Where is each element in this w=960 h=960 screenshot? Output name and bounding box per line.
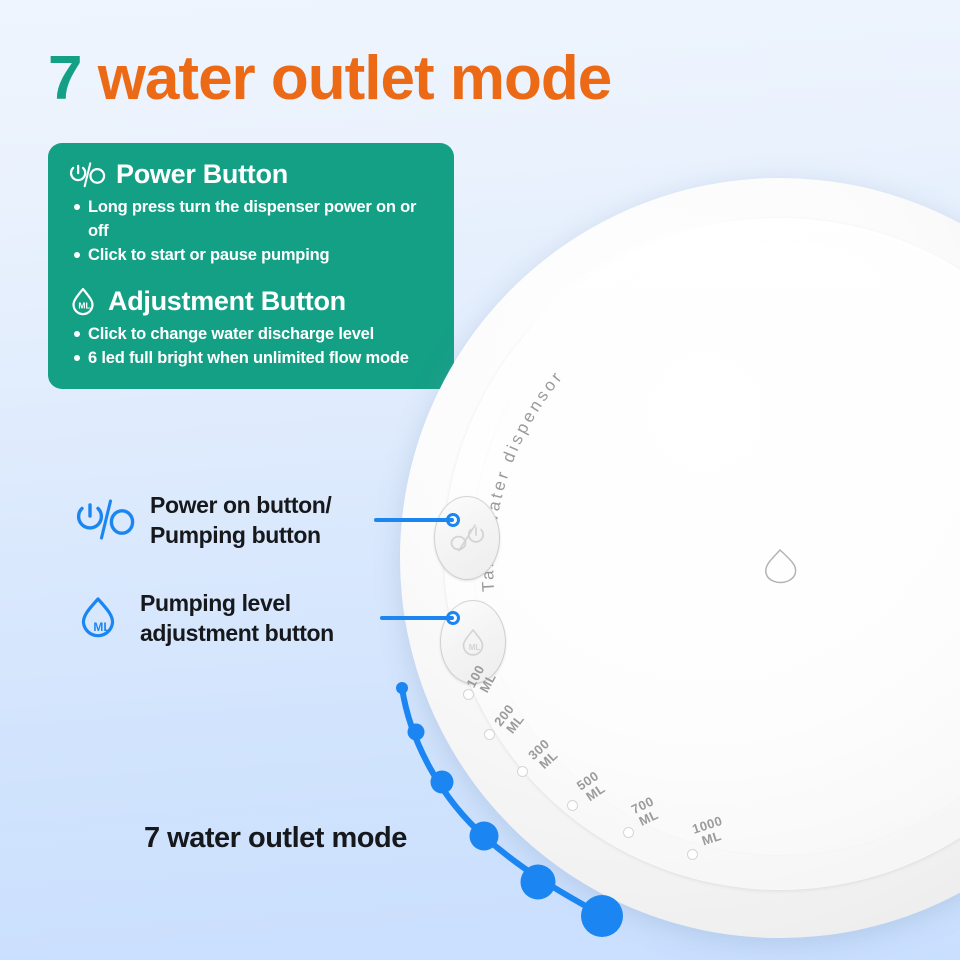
svg-text:ML: ML [469,643,481,652]
callout-line: Pumping button [150,522,321,548]
callout-line: adjustment button [140,620,334,646]
info-bullet: Long press turn the dispenser power on o… [74,196,434,244]
leader-line-power [374,518,454,522]
info-section-adjust-header: ML Adjustment Button [68,286,434,317]
info-section-power-header: Power Button [68,159,434,190]
ml-droplet-icon: ML [68,286,98,316]
title-rest: water outlet mode [81,44,611,113]
callout-line: Pumping level [140,590,291,616]
water-drop-icon [758,546,802,586]
power-button-icon [74,497,136,543]
bullet-dot [74,252,80,258]
level-led [688,850,697,859]
device-power-pump-button[interactable] [434,496,500,580]
mode-dot [431,771,454,794]
bottom-mode-label: 7 water outlet mode [144,822,407,855]
ml-droplet-icon: ML [456,626,490,658]
info-section-adjust-title: Adjustment Button [108,286,346,317]
info-bullet-text: Click to change water discharge level [88,323,374,347]
mode-dot [521,865,556,900]
svg-text:ML: ML [78,301,90,311]
leader-endpoint-adjust [446,611,460,625]
callout-line: Power on button/ [150,492,331,518]
outlet-mode-curve [370,670,650,950]
info-bullet: Click to start or pause pumping [74,244,434,268]
callout-power-label: Power on button/ Pumping button [150,490,331,551]
bullet-dot [74,331,80,337]
svg-text:ML: ML [93,620,110,634]
info-section-power-title: Power Button [116,159,288,190]
mode-dot [408,724,425,741]
power-button-icon [68,161,106,189]
mode-dot [470,822,499,851]
info-bullet: Click to change water discharge level [74,323,434,347]
leader-line-adjust [380,616,454,620]
mode-dot [581,895,623,937]
bullet-dot [74,355,80,361]
info-card: Power Button Long press turn the dispens… [48,143,454,389]
title-highlight: 7 [48,44,81,113]
bullet-dot [74,204,80,210]
callout-adjust-label: Pumping level adjustment button [140,588,334,649]
info-bullet: 6 led full bright when unlimited flow mo… [74,347,434,371]
ml-droplet-icon: ML [74,593,126,643]
info-bullet-text: Click to start or pause pumping [88,244,329,268]
leader-endpoint-power [446,513,460,527]
callout-adjust-button: ML Pumping level adjustment button [74,588,334,649]
infographic-canvas: 7 water outlet mode Power Button Long pr… [0,0,960,960]
info-bullet-text: 6 led full bright when unlimited flow mo… [88,347,409,371]
callout-power-button: Power on button/ Pumping button [74,490,331,551]
page-title: 7 water outlet mode [48,48,611,110]
power-button-icon [447,523,487,553]
info-bullet-text: Long press turn the dispenser power on o… [88,196,434,244]
mode-dot [396,682,408,694]
